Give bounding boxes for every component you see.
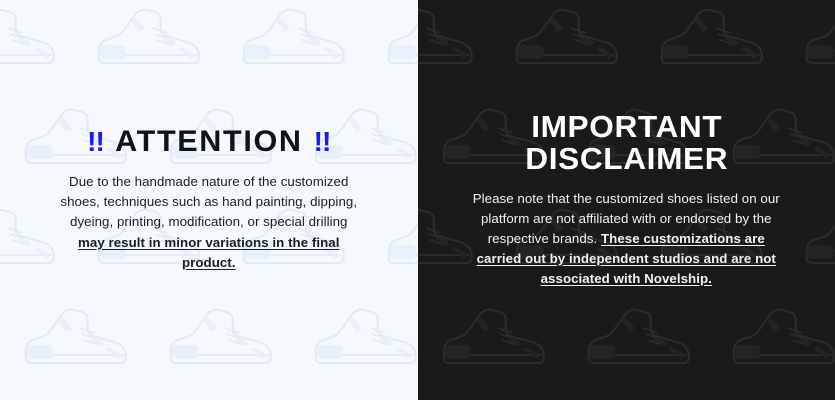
disclaimer-content: IMPORTANT DISCLAIMER Please note that th…: [418, 111, 835, 289]
double-exclamation-left-icon: !!: [87, 128, 104, 156]
attention-panel: !! ATTENTION !! Due to the handmade natu…: [0, 0, 418, 400]
attention-title: ATTENTION: [115, 127, 303, 157]
attention-content: !! ATTENTION !! Due to the handmade natu…: [0, 127, 418, 274]
attention-body-normal: Due to the handmade nature of the custom…: [60, 174, 357, 230]
double-exclamation-right-icon: !!: [314, 128, 331, 156]
disclaimer-body-text: Please note that the customized shoes li…: [466, 189, 786, 289]
disclaimer-heading-line1: IMPORTANT: [442, 111, 811, 143]
attention-heading: !! ATTENTION !!: [28, 127, 390, 157]
attention-body-emphasis: may result in minor variations in the fi…: [78, 235, 340, 270]
customization-notice-banner: !! ATTENTION !! Due to the handmade natu…: [0, 0, 835, 400]
attention-body-text: Due to the handmade nature of the custom…: [59, 172, 359, 274]
disclaimer-panel: IMPORTANT DISCLAIMER Please note that th…: [418, 0, 835, 400]
disclaimer-heading: IMPORTANT DISCLAIMER: [442, 111, 811, 175]
disclaimer-heading-line2: DISCLAIMER: [442, 143, 811, 175]
